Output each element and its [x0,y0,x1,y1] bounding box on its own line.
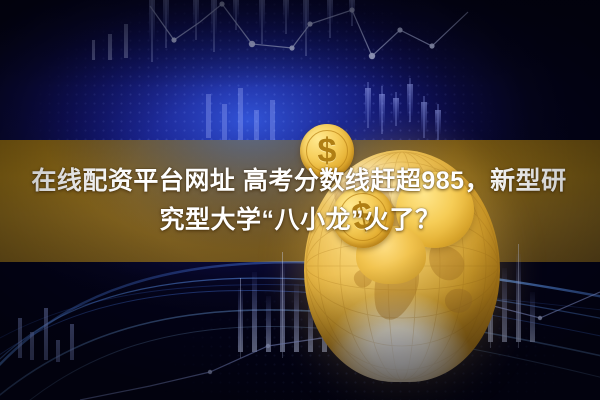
banner-image: $ $ 在线配资平台网址 高考分数线赶超985，新型研 究型大学“八小龙”火了？ [0,0,600,400]
background-vignette [0,0,600,400]
